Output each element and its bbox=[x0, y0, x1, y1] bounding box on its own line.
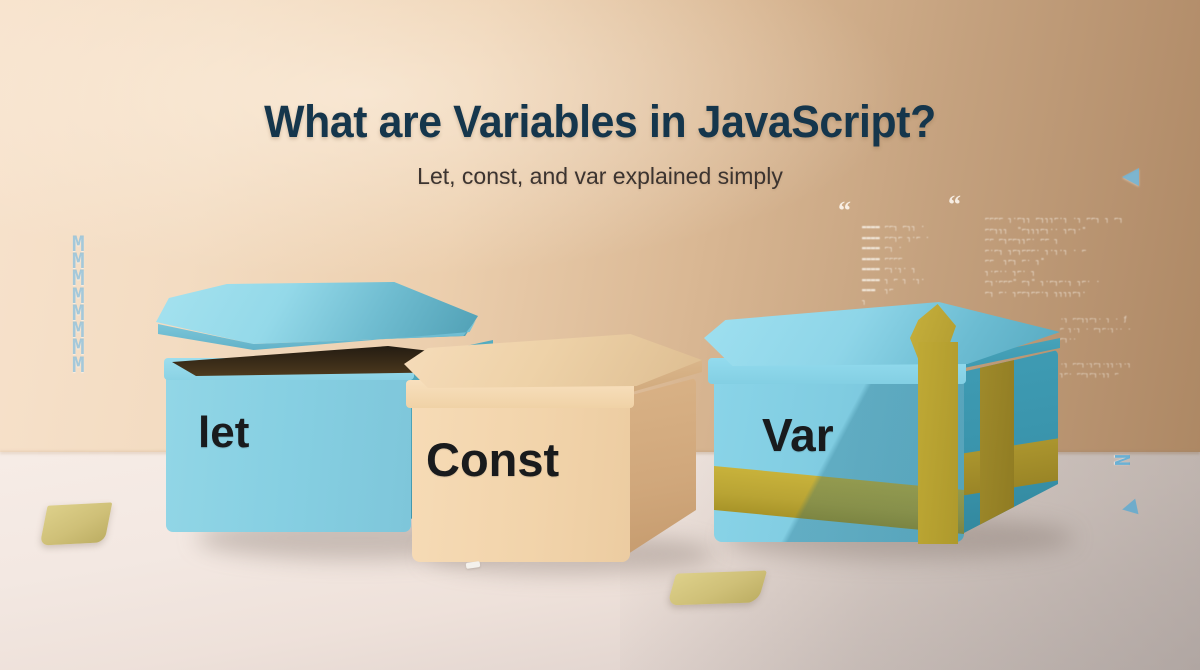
page-subtitle: Let, const, and var explained simply bbox=[0, 163, 1200, 190]
quote-mark-icon: “ bbox=[838, 196, 851, 226]
glyph-m: M bbox=[72, 357, 85, 374]
glyph-n-icon: N bbox=[1110, 454, 1134, 466]
page-title: What are Variables in JavaScript? bbox=[30, 96, 1170, 148]
var-box-label: Var bbox=[762, 408, 834, 462]
paper-note-left bbox=[40, 502, 113, 545]
decor-code-block-left: ▬▬▬▬ ⌐⌐┐ ⌐┐┐ · ▬▬▬▬ ⌐⌐┐⌐ ┐·⌐ · ▬▬▬▬ ⌐┐ ·… bbox=[862, 222, 930, 306]
var-box-side-ribbon-vertical bbox=[980, 350, 1014, 534]
triangle-small-icon bbox=[1121, 499, 1139, 518]
var-box[interactable]: Var bbox=[704, 302, 1068, 552]
const-box-label: Const bbox=[426, 432, 559, 487]
var-box-vertical-ribbon bbox=[918, 342, 958, 544]
illustration-scene: What are Variables in JavaScript? Let, c… bbox=[0, 0, 1200, 670]
var-box-side-panel bbox=[962, 350, 1058, 534]
decor-code-block-right: ⌐⌐⌐⌐ ┐·⌐┐┐ ⌐┐┐┐⌐·┐ ·┐ ⌐⌐┐ ┐ ⌐┐ ⌐⌐┐┐┐ "⌐┐… bbox=[985, 214, 1123, 298]
paper-note-center bbox=[667, 570, 767, 605]
decor-code-block-far-2: ·┐ ⌐⌐┐·┐⌐┐·┐┐·┐·┐ ┐⌐· ⌐⌐┐⌐┐·┐┐ ⌐ bbox=[1060, 360, 1132, 380]
quote-mark-icon: “ bbox=[948, 190, 961, 220]
const-box-side-panel bbox=[628, 378, 696, 554]
const-box[interactable]: Const bbox=[404, 334, 704, 568]
let-box-label: let bbox=[198, 408, 249, 458]
triangle-left-icon bbox=[1122, 168, 1139, 186]
decor-code-block-far: ·┐ ⌐⌐┐┐⌐┐· ┐ · ƒ ⌐ ┐·┐ · ⌐┐⌐·┐·· · ⌐┐·· bbox=[1060, 315, 1132, 344]
left-glyph-column: M M M M M M M M bbox=[72, 236, 85, 374]
